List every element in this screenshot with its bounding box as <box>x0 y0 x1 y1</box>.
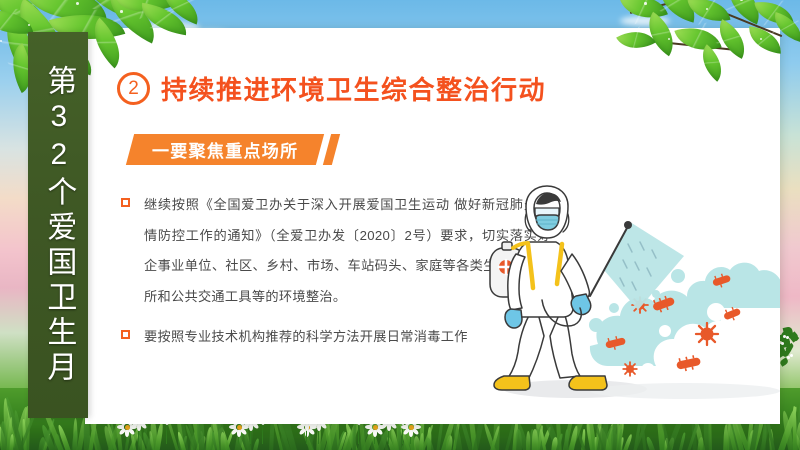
bullet-text: 要按照专业技术机构推荐的科学方法开展日常消毒工作 <box>144 322 468 353</box>
ground-shadow <box>590 383 780 399</box>
vertical-title-text: 第32个爱国卫生月 <box>41 65 76 386</box>
leaf <box>710 19 754 59</box>
dew-drop <box>644 2 647 5</box>
ribbon-body: 一要聚焦重点场所 <box>126 134 325 165</box>
dew-drop <box>706 8 708 10</box>
dew-drop <box>668 38 670 40</box>
illustration-worker-spraying <box>480 184 780 424</box>
square-bullet-icon <box>121 198 130 207</box>
dew-drop <box>28 24 30 26</box>
grass-blade <box>678 432 686 450</box>
grass-blade <box>792 406 796 450</box>
grass-blade <box>645 437 655 450</box>
ribbon-accent-bar <box>323 134 340 165</box>
subsection-ribbon: 一要聚焦重点场所 <box>130 134 336 165</box>
dew-drop <box>740 0 743 1</box>
ribbon-label: 一要聚焦重点场所 <box>152 137 298 162</box>
leaves-top-right <box>620 0 800 96</box>
grass-blade <box>252 438 260 450</box>
square-bullet-icon <box>121 330 130 339</box>
grass-blade <box>424 437 434 450</box>
bush-blossom <box>783 335 786 338</box>
page-title: 持续推进环境卫生综合整治行动 <box>161 70 546 107</box>
slide-stage: 第32个爱国卫生月 2 持续推进环境卫生综合整治行动 一要聚焦重点场所 继续按照… <box>0 0 800 450</box>
bush-blossom <box>790 354 793 357</box>
bush-blossom <box>787 356 790 359</box>
dew-drop <box>0 40 2 42</box>
dew-drop <box>76 2 79 5</box>
dew-drop <box>760 38 762 40</box>
vertical-title-banner: 第32个爱国卫生月 <box>28 32 88 418</box>
dew-drop <box>120 10 123 13</box>
bush-blossom <box>781 342 784 345</box>
